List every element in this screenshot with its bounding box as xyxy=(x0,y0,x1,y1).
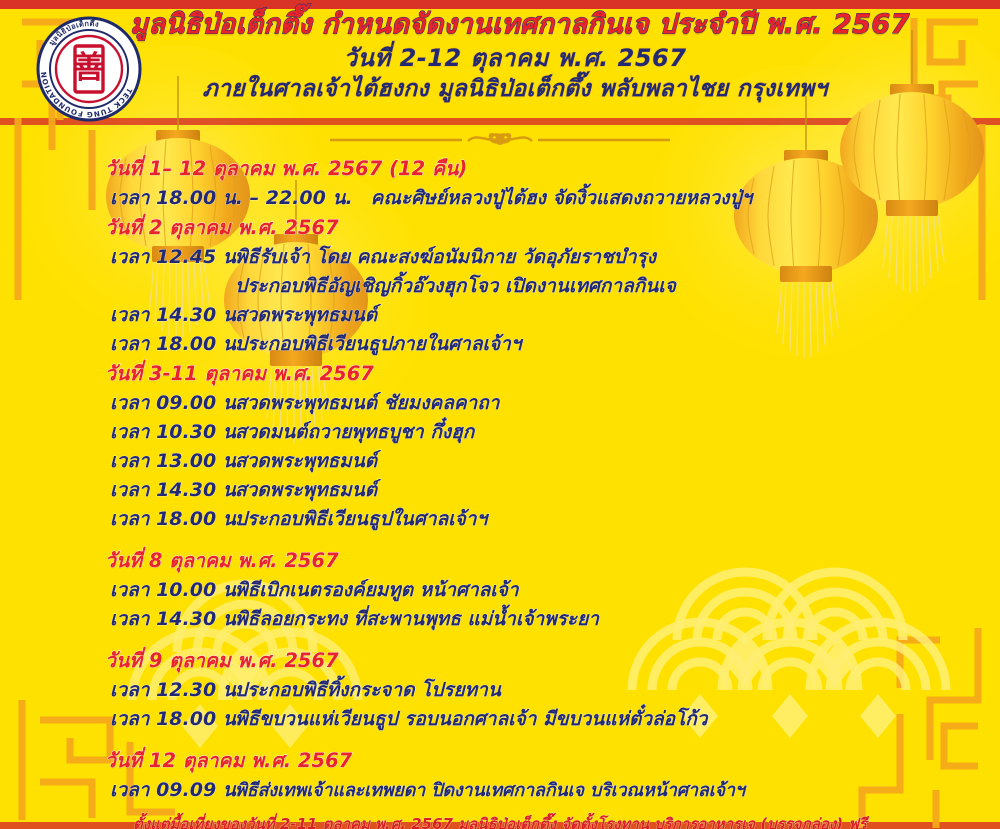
schedule-row: เวลา 18.00 น.ประกอบพิธีเวียนธูปภายในศาลเ… xyxy=(0,330,1000,359)
schedule-group: วันที่ 2 ตุลาคม พ.ศ. 2567เวลา 12.45 น.พิ… xyxy=(0,213,1000,359)
schedule-row-description: สวดมนต์ถวายพุทธบูชา กึ๋งฮุก xyxy=(235,418,474,447)
schedule-row-description: พิธีขบวนแห่เวียนธูป รอบนอกศาลเจ้า มีขบวน… xyxy=(235,705,707,734)
schedule-group: วันที่ 3-11 ตุลาคม พ.ศ. 2567เวลา 09.00 น… xyxy=(0,359,1000,534)
schedule-row-description: พิธีลอยกระทง ที่สะพานพุทธ แม่น้ำเจ้าพระย… xyxy=(235,605,599,634)
schedule-row-description: สวดพระพุทธมนต์ xyxy=(235,301,377,330)
schedule-row-time: เวลา 14.30 น. xyxy=(0,301,235,330)
schedule-row-spacer xyxy=(0,272,235,301)
schedule-row-description: คณะศิษย์หลวงปู่ไต้ฮง จัดงิ้วแสดงถวายหลวง… xyxy=(371,184,753,213)
schedule-row-continuation: ประกอบพิธีอัญเชิญกิ้วอ๊วงฮุกโจว เปิดงานเ… xyxy=(0,272,1000,301)
schedule-row: เวลา 12.30 น.ประกอบพิธีทิ้งกระจาด โปรยทา… xyxy=(0,676,1000,705)
schedule-row: เวลา 12.45 น.พิธีรับเจ้า โดย คณะสงฆ์อนัม… xyxy=(0,243,1000,272)
schedule-row-description: สวดพระพุทธมนต์ xyxy=(235,447,377,476)
poster-footer: ตั้งแต่มื้อเที่ยงของวันที่ 2-11 ตุลาคม พ… xyxy=(0,813,1000,829)
schedule-row: เวลา 18.00 น.ประกอบพิธีเวียนธูปในศาลเจ้า… xyxy=(0,505,1000,534)
schedule-row-time: เวลา 14.30 น. xyxy=(0,605,235,634)
schedule-row: เวลา 14.30 น.สวดพระพุทธมนต์ xyxy=(0,476,1000,505)
schedule-row-description: สวดพระพุทธมนต์ ชัยมงคลคาถา xyxy=(235,389,499,418)
schedule-row: เวลา 09.09 น.พิธีส่งเทพเจ้าและเทพยดา ปิด… xyxy=(0,776,1000,805)
schedule-row-description: พิธีส่งเทพเจ้าและเทพยดา ปิดงานเทศกาลกินเ… xyxy=(235,776,745,805)
schedule-group-heading: วันที่ 12 ตุลาคม พ.ศ. 2567 xyxy=(0,746,1000,776)
schedule-group-heading: วันที่ 2 ตุลาคม พ.ศ. 2567 xyxy=(0,213,1000,243)
footer-line: ตั้งแต่มื้อเที่ยงของวันที่ 2-11 ตุลาคม พ… xyxy=(0,813,1000,829)
schedule-row-time: เวลา 18.00 น. xyxy=(0,705,235,734)
schedule-row: เวลา 14.30 น.สวดพระพุทธมนต์ xyxy=(0,301,1000,330)
schedule-row: เวลา 13.00 น.สวดพระพุทธมนต์ xyxy=(0,447,1000,476)
schedule-row-time: เวลา 12.30 น. xyxy=(0,676,235,705)
schedule-group: วันที่ 12 ตุลาคม พ.ศ. 2567เวลา 09.09 น.พ… xyxy=(0,746,1000,805)
schedule-row-time: เวลา 18.00 น. xyxy=(0,505,235,534)
schedule-list: วันที่ 1– 12 ตุลาคม พ.ศ. 2567 (12 คืน)เว… xyxy=(0,148,1000,805)
poster-header: มูลนิธิป่อเต็กตึ๊ง กำหนดจัดงานเทศกาลกินเ… xyxy=(0,0,1000,130)
schedule-group: วันที่ 9 ตุลาคม พ.ศ. 2567เวลา 12.30 น.ปร… xyxy=(0,646,1000,734)
schedule-group-gap xyxy=(0,734,1000,746)
schedule-row-time: เวลา 10.30 น. xyxy=(0,418,235,447)
schedule-group-heading: วันที่ 8 ตุลาคม พ.ศ. 2567 xyxy=(0,546,1000,576)
schedule-row-description-continued: ประกอบพิธีอัญเชิญกิ้วอ๊วงฮุกโจว เปิดงานเ… xyxy=(235,272,676,301)
schedule-row-description: สวดพระพุทธมนต์ xyxy=(235,476,377,505)
schedule-row-time: เวลา 18.00 น. – 22.00 น. xyxy=(0,184,371,213)
schedule-group: วันที่ 1– 12 ตุลาคม พ.ศ. 2567 (12 คืน)เว… xyxy=(0,154,1000,213)
schedule-row: เวลา 18.00 น.พิธีขบวนแห่เวียนธูป รอบนอกศ… xyxy=(0,705,1000,734)
schedule-row: เวลา 09.00 น.สวดพระพุทธมนต์ ชัยมงคลคาถา xyxy=(0,389,1000,418)
schedule-row-description: พิธีเบิกเนตรองค์ยมทูต หน้าศาลเจ้า xyxy=(235,576,519,605)
schedule-group-heading: วันที่ 1– 12 ตุลาคม พ.ศ. 2567 (12 คืน) xyxy=(0,154,1000,184)
schedule-row: เวลา 18.00 น. – 22.00 น.คณะศิษย์หลวงปู่ไ… xyxy=(0,184,1000,213)
header-title-line1: มูลนิธิป่อเต็กตึ๊ง กำหนดจัดงานเทศกาลกินเ… xyxy=(40,8,1000,42)
schedule-row-time: เวลา 13.00 น. xyxy=(0,447,235,476)
schedule-row-time: เวลา 12.45 น. xyxy=(0,243,235,272)
ornamental-divider xyxy=(0,132,1000,148)
schedule-row-time: เวลา 14.30 น. xyxy=(0,476,235,505)
schedule-row: เวลา 14.30 น.พิธีลอยกระทง ที่สะพานพุทธ แ… xyxy=(0,605,1000,634)
schedule-group-gap xyxy=(0,534,1000,546)
festival-poster: มูลนิธิป่อเต็กตึ๊ง TECK TUNG FOUNDATION … xyxy=(0,0,1000,829)
schedule-row-description: ประกอบพิธีเวียนธูปภายในศาลเจ้าฯ xyxy=(235,330,521,359)
header-title-line2: วันที่ 2-12 ตุลาคม พ.ศ. 2567 xyxy=(30,42,1000,74)
schedule-group: วันที่ 8 ตุลาคม พ.ศ. 2567เวลา 10.00 น.พิ… xyxy=(0,546,1000,634)
schedule-group-heading: วันที่ 9 ตุลาคม พ.ศ. 2567 xyxy=(0,646,1000,676)
schedule-row-description: พิธีรับเจ้า โดย คณะสงฆ์อนัมนิกาย วัดอุภั… xyxy=(235,243,656,272)
teck-tung-foundation-seal: มูลนิธิป่อเต็กตึ๊ง TECK TUNG FOUNDATION … xyxy=(36,16,142,122)
schedule-row: เวลา 10.30 น.สวดมนต์ถวายพุทธบูชา กึ๋งฮุก xyxy=(0,418,1000,447)
schedule-row-time: เวลา 18.00 น. xyxy=(0,330,235,359)
schedule-row-description: ประกอบพิธีทิ้งกระจาด โปรยทาน xyxy=(235,676,501,705)
header-title-line3: ภายในศาลเจ้าไต้ฮงกง มูลนิธิป่อเต็กตึ๊ง พ… xyxy=(30,74,1000,105)
schedule-group-gap xyxy=(0,634,1000,646)
schedule-row-time: เวลา 09.09 น. xyxy=(0,776,235,805)
seal-chinese-character: 善 xyxy=(74,50,105,86)
schedule-row: เวลา 10.00 น.พิธีเบิกเนตรองค์ยมทูต หน้าศ… xyxy=(0,576,1000,605)
schedule-group-heading: วันที่ 3-11 ตุลาคม พ.ศ. 2567 xyxy=(0,359,1000,389)
schedule-row-time: เวลา 09.00 น. xyxy=(0,389,235,418)
schedule-row-description: ประกอบพิธีเวียนธูปในศาลเจ้าฯ xyxy=(235,505,487,534)
schedule-row-time: เวลา 10.00 น. xyxy=(0,576,235,605)
